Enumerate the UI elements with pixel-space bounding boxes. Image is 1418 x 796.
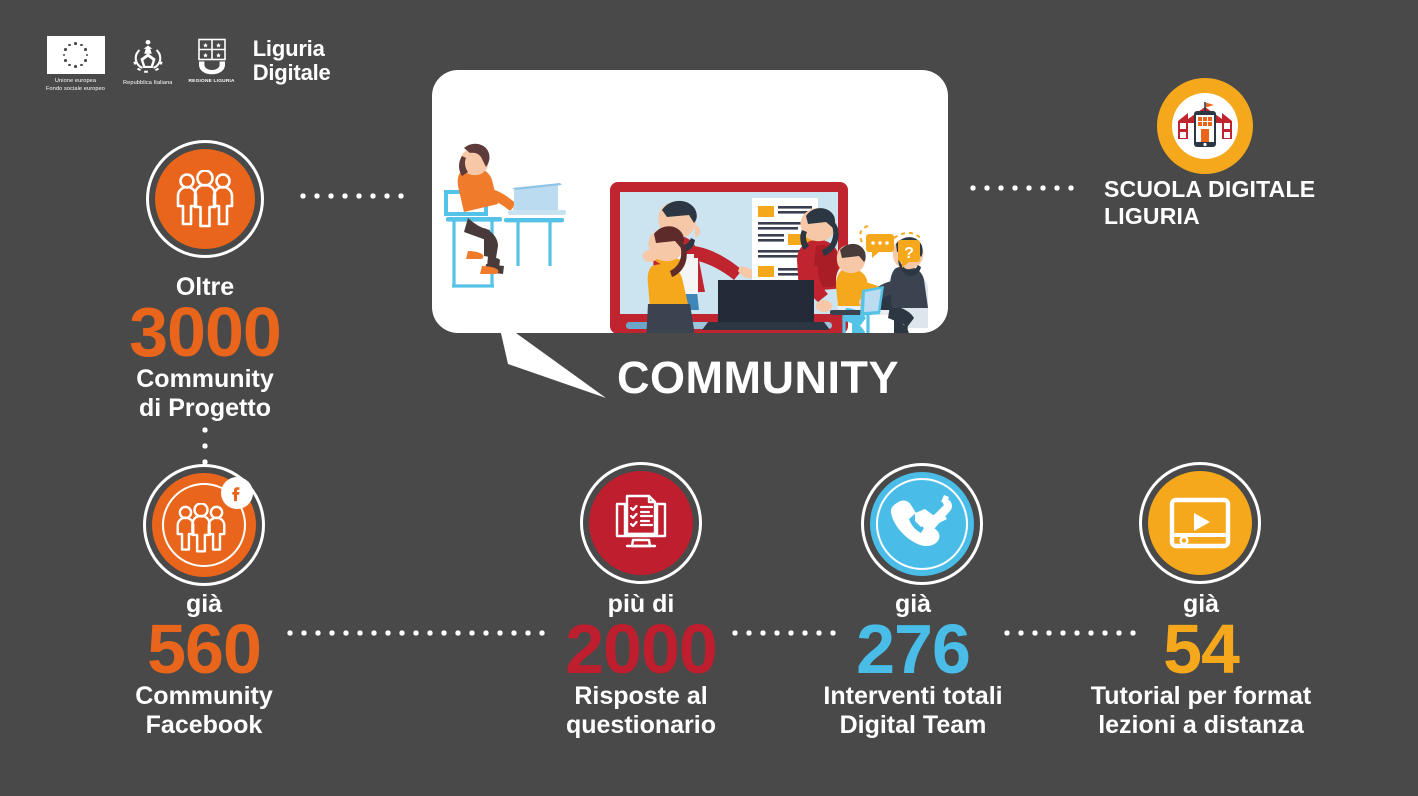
regione-liguria-crest-icon	[192, 36, 232, 76]
community-caption: COMMUNITY	[617, 352, 899, 404]
badge-inner-ring	[876, 478, 968, 570]
stat-text-tutorial-lezioni: già 54 Tutorial per format lezioni a dis…	[1049, 592, 1353, 739]
stat-badge-community-facebook[interactable]	[143, 464, 265, 586]
stat-text-community-facebook: già 560 Community Facebook	[54, 592, 354, 739]
badge-fill	[1148, 471, 1252, 575]
eu-star	[84, 59, 87, 62]
eu-star	[74, 42, 77, 45]
liguria-digitale-wordmark: Liguria Digitale	[253, 37, 331, 85]
stat-number: 2000	[491, 617, 791, 682]
badge-fill	[152, 473, 256, 577]
eu-star	[86, 54, 89, 57]
connector-people-to-bubble	[296, 193, 406, 199]
stat-description: Risposte al questionario	[491, 682, 791, 739]
eu-logo-block: Unione europea Fondo sociale europeo	[46, 36, 105, 93]
italian-republic-emblem-icon	[126, 36, 170, 76]
infographic-canvas: Unione europea Fondo sociale europeo	[0, 0, 1418, 796]
eu-star	[64, 59, 67, 62]
connector-progetto-to-facebook	[202, 422, 208, 468]
stat-text-interventi-digital-team: già 276 Interventi totali Digital Team	[763, 592, 1063, 739]
eu-star	[74, 65, 77, 68]
connector-bubble-to-school	[966, 185, 1076, 191]
stat-badge-risposte-questionario[interactable]	[580, 462, 702, 584]
eu-star	[68, 44, 71, 47]
stat-number: 276	[763, 617, 1063, 682]
svg-text:?: ?	[904, 245, 914, 262]
eu-flag-icon	[47, 36, 105, 74]
community-speech-bubble: ?	[432, 70, 948, 333]
stat-description: Interventi totali Digital Team	[763, 682, 1063, 739]
stat-badge-tutorial-lezioni[interactable]	[1139, 462, 1261, 584]
facebook-icon	[221, 477, 253, 509]
institutional-logo-bar: Unione europea Fondo sociale europeo	[46, 36, 331, 93]
badge-fill	[155, 149, 255, 249]
italy-logo-caption: Repubblica Italiana	[123, 79, 172, 87]
stat-number: 560	[54, 617, 354, 682]
scuola-digitale-badge[interactable]	[1157, 78, 1253, 174]
region-logo-block: REGIONE LIGURIA	[189, 36, 235, 86]
stat-badge-community-di-progetto[interactable]	[146, 140, 264, 258]
school-building-smartphone-icon	[1176, 101, 1234, 151]
distance-learning-illustration: ?	[432, 70, 948, 333]
eu-star	[68, 64, 71, 67]
stat-text-community-di-progetto: Oltre 3000 Community di Progetto	[55, 275, 355, 422]
stat-number: 54	[1049, 617, 1353, 682]
stat-description: Community Facebook	[54, 682, 354, 739]
eu-star	[63, 54, 66, 57]
stat-description: Tutorial per format lezioni a distanza	[1049, 682, 1353, 739]
eu-star	[80, 64, 83, 67]
stat-description: Community di Progetto	[55, 365, 355, 422]
video-player-icon	[1169, 497, 1231, 549]
monitor-checklist-icon	[609, 492, 673, 554]
eu-star	[80, 44, 83, 47]
italy-logo-block: Repubblica Italiana	[123, 36, 172, 87]
stat-number: 3000	[55, 300, 355, 365]
three-people-icon	[174, 170, 236, 228]
region-logo-caption: REGIONE LIGURIA	[189, 79, 235, 86]
eu-star	[84, 48, 87, 51]
speech-bubble-tail	[498, 320, 618, 402]
stat-text-risposte-questionario: più di 2000 Risposte al questionario	[491, 592, 791, 739]
school-badge-fill	[1157, 78, 1253, 174]
scuola-digitale-label: SCUOLA DIGITALE LIGURIA	[1104, 176, 1315, 230]
three-people-facebook-icon	[174, 503, 228, 553]
eu-logo-caption: Unione europea Fondo sociale europeo	[46, 77, 105, 93]
stat-badge-interventi-digital-team[interactable]	[861, 463, 983, 585]
badge-fill	[870, 472, 974, 576]
badge-fill	[589, 471, 693, 575]
school-badge-inner	[1172, 93, 1238, 159]
eu-star	[64, 48, 67, 51]
